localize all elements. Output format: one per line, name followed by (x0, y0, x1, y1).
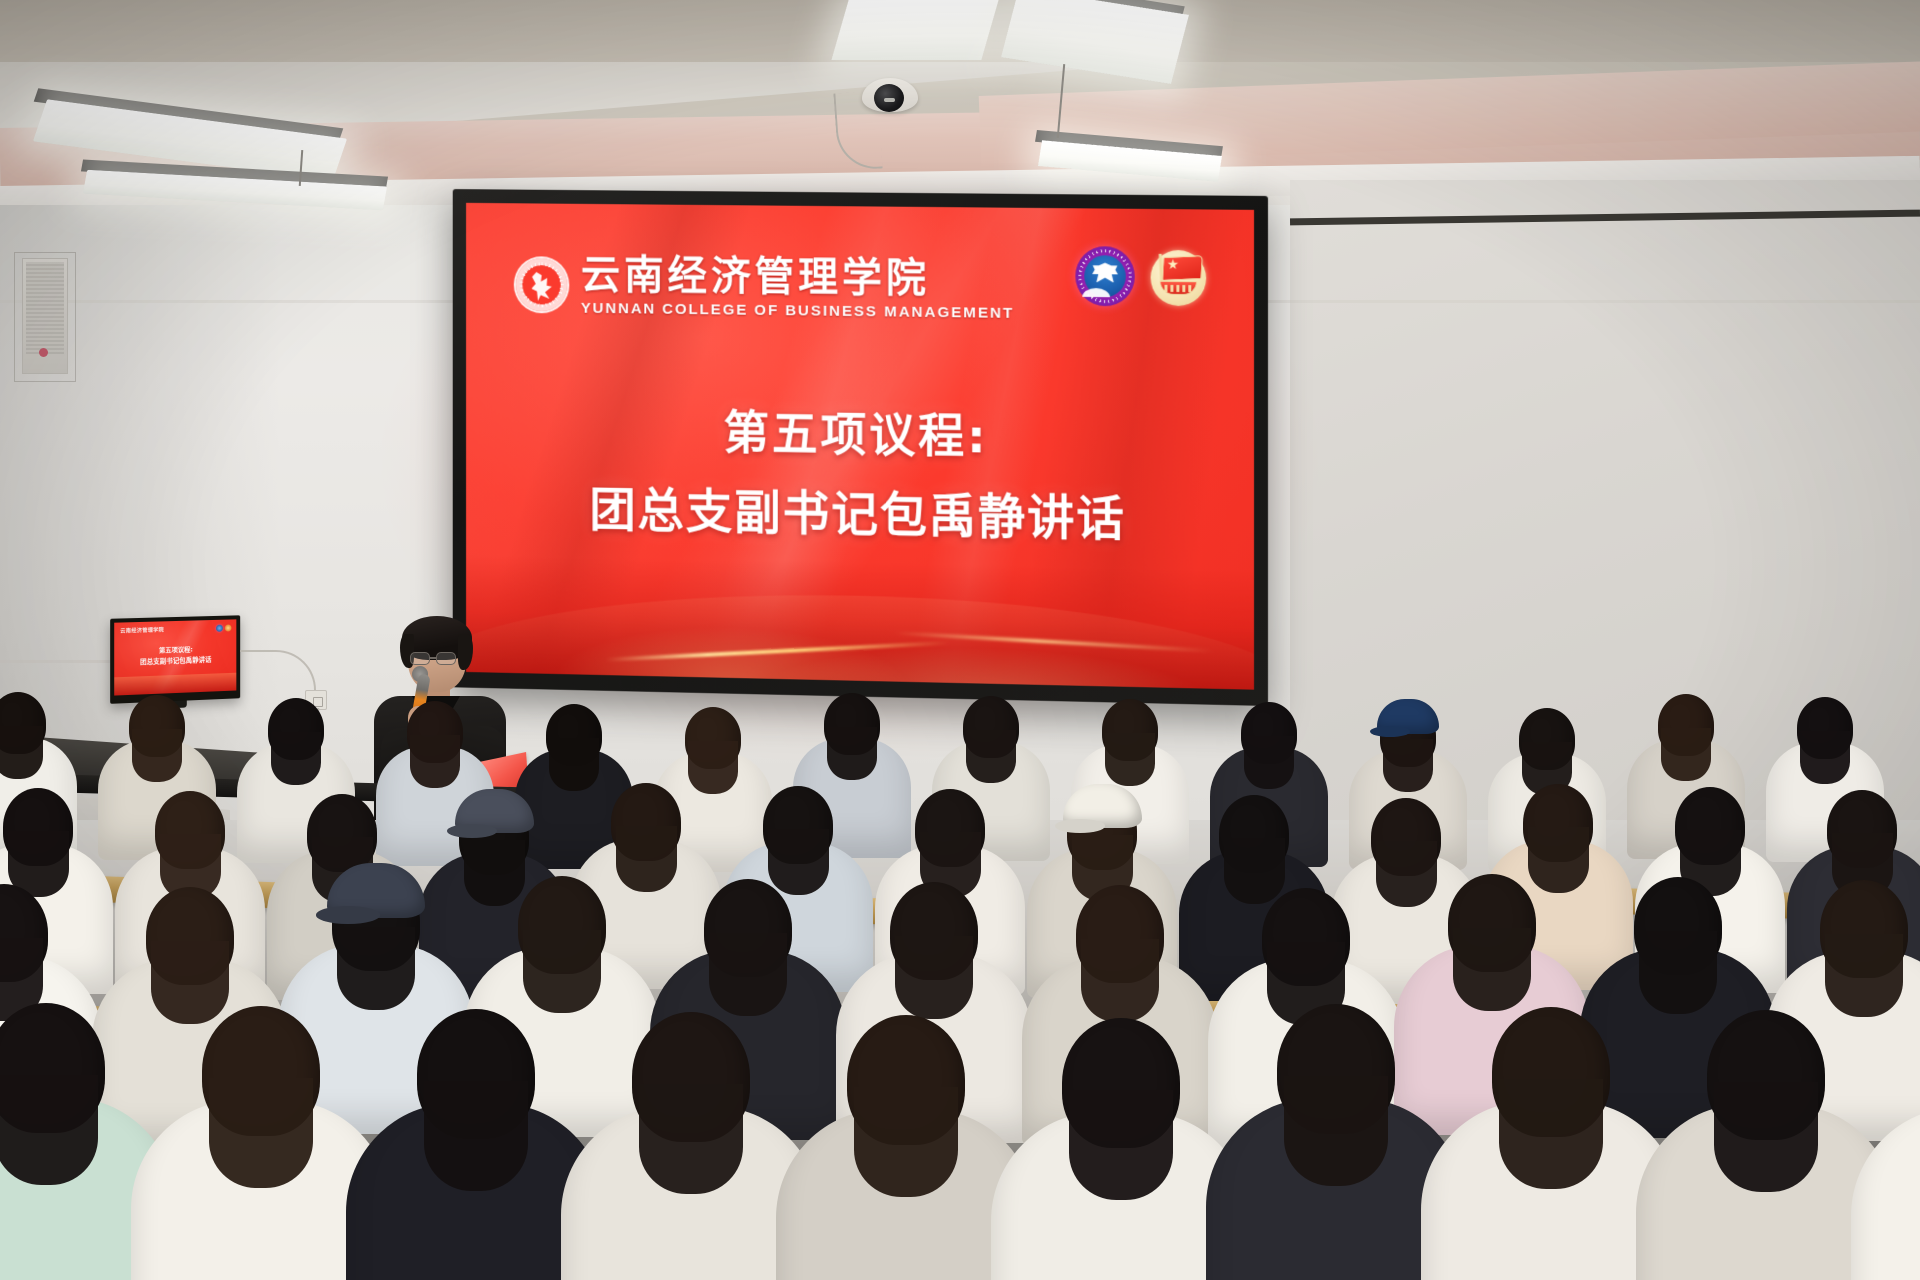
audience-member-hair (0, 726, 43, 779)
audience-member-hair (1244, 736, 1293, 789)
audience-member-hair (549, 738, 598, 791)
audience-member-hair (1081, 939, 1158, 1022)
audience-member-hair (966, 730, 1015, 783)
audience-member-hair (1383, 739, 1432, 792)
audience-member-hair (410, 735, 459, 788)
audience-member-hair (1453, 928, 1530, 1011)
audience-member-hair (271, 732, 320, 785)
audience-member-hair (1105, 733, 1154, 786)
audience-member-hair (1224, 838, 1286, 904)
audience-member-hair (1069, 1090, 1173, 1201)
audience-member-hair (688, 741, 737, 794)
audience-member-hair (209, 1078, 313, 1189)
audience-member-cap-brim-icon (447, 824, 497, 838)
audience (0, 0, 1920, 1280)
audience-member-hair (854, 1087, 958, 1198)
audience-member-hair (523, 930, 600, 1013)
audience-member-hair (768, 829, 830, 895)
audience-member-hair (0, 1075, 98, 1186)
audience-member-hair (1825, 934, 1902, 1017)
lecture-hall-scene: 云南经济管理学院 YUNNAN COLLEGE OF BUSINESS MANA… (0, 0, 1920, 1280)
audience-member-hair (151, 941, 228, 1024)
audience-member-hair (424, 1081, 528, 1192)
audience-member-hair (709, 933, 786, 1016)
audience-member-hair (1499, 1079, 1603, 1190)
audience-member-hair (1714, 1082, 1818, 1193)
audience-member-hair (1284, 1076, 1388, 1187)
audience-member-hair (639, 1084, 743, 1195)
audience-member-cap-brim-icon (316, 906, 379, 924)
audience-member-hair (337, 927, 414, 1010)
audience-member-hair (895, 936, 972, 1019)
audience-member-hair (616, 826, 678, 892)
audience-member-hair (1528, 827, 1590, 893)
audience-member-hair (827, 727, 876, 780)
audience-member-hair (1661, 728, 1710, 781)
audience-member-hair (1376, 841, 1438, 907)
audience-member-hair (464, 840, 526, 906)
audience-member-hair (1639, 931, 1716, 1014)
audience-member-hair (132, 729, 181, 782)
audience-member-hair (1800, 731, 1849, 784)
audience-member-cap-brim-icon (1055, 819, 1105, 833)
